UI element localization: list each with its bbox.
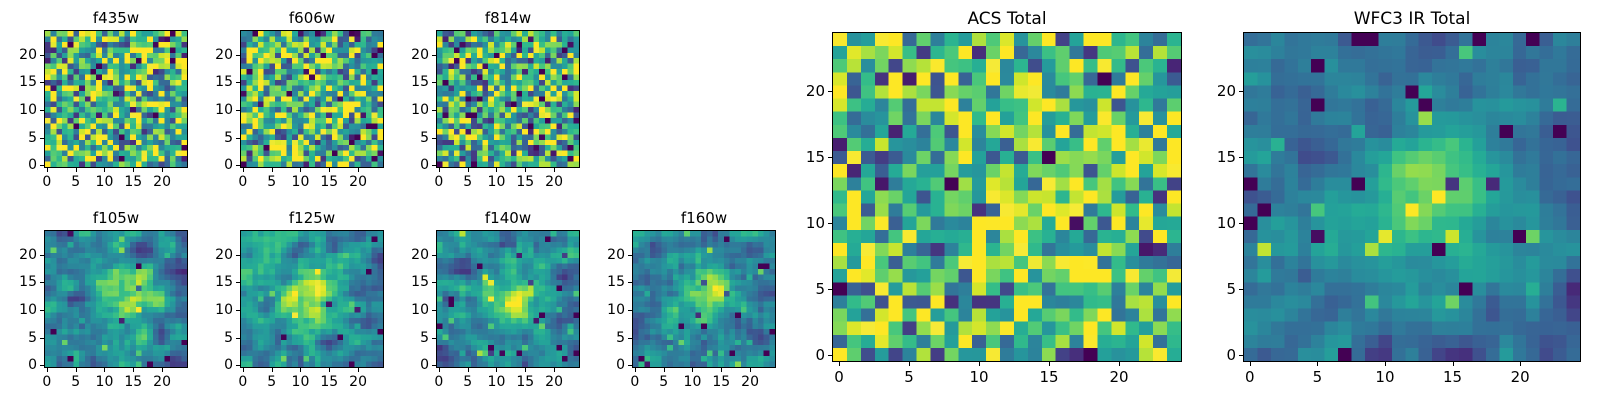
y-tick-label: 5 [28,330,37,346]
image-panel-f140w[interactable] [436,230,580,368]
heatmap-f105w [45,231,187,367]
heatmap-wfc3-ir-total [1244,33,1580,361]
x-tick-label: 10 [488,374,506,390]
y-tick-label: 10 [1217,214,1236,232]
y-tick-label: 15 [215,274,233,290]
x-tick-label: 20 [741,374,759,390]
x-tick-mark [272,168,273,172]
y-tick-label: 0 [1226,346,1236,364]
x-tick-mark [554,368,555,372]
y-tick-mark [40,110,44,111]
image-panel-f160w[interactable] [632,230,776,368]
y-tick-label: 0 [28,157,37,173]
y-tick-label: 5 [815,280,825,298]
x-tick-label: 20 [349,374,367,390]
x-tick-mark [721,368,722,372]
y-tick-mark [236,55,240,56]
x-tick-mark [664,368,665,372]
x-tick-mark [1119,362,1120,366]
y-tick-mark [828,223,832,224]
y-tick-mark [628,282,632,283]
x-tick-label: 5 [904,368,914,386]
x-tick-label: 10 [96,174,114,190]
y-tick-mark [432,110,436,111]
y-tick-label: 0 [616,357,625,373]
y-tick-mark [40,255,44,256]
x-tick-label: 5 [71,174,80,190]
x-tick-label: 15 [320,174,338,190]
x-tick-label: 20 [1109,368,1128,386]
x-tick-mark [272,368,273,372]
y-tick-label: 0 [28,357,37,373]
x-tick-mark [909,362,910,366]
y-tick-mark [40,55,44,56]
x-tick-mark [133,168,134,172]
y-tick-mark [828,91,832,92]
x-tick-mark [76,368,77,372]
y-tick-label: 20 [411,247,429,263]
y-tick-label: 10 [607,302,625,318]
x-tick-mark [496,368,497,372]
y-tick-label: 20 [1217,82,1236,100]
x-tick-label: 15 [124,174,142,190]
image-panel-acs-total[interactable] [832,32,1182,362]
x-tick-mark [358,368,359,372]
x-tick-label: 15 [516,174,534,190]
x-tick-label: 20 [545,174,563,190]
y-tick-mark [40,365,44,366]
y-tick-mark [40,165,44,166]
x-tick-mark [439,368,440,372]
x-tick-label: 15 [1039,368,1058,386]
x-tick-mark [525,368,526,372]
x-tick-label: 10 [1375,368,1394,386]
y-tick-mark [1239,91,1243,92]
y-tick-label: 5 [224,130,233,146]
y-tick-mark [432,365,436,366]
x-tick-mark [47,368,48,372]
x-tick-label: 0 [630,374,639,390]
y-tick-label: 10 [19,302,37,318]
x-tick-mark [76,168,77,172]
y-tick-label: 0 [224,357,233,373]
y-tick-label: 15 [806,148,825,166]
y-tick-mark [432,165,436,166]
x-tick-label: 15 [124,374,142,390]
y-tick-mark [40,138,44,139]
image-panel-f105w[interactable] [44,230,188,368]
y-tick-label: 5 [616,330,625,346]
y-tick-label: 20 [215,247,233,263]
x-tick-label: 15 [516,374,534,390]
x-tick-mark [133,368,134,372]
y-tick-mark [432,310,436,311]
y-tick-label: 10 [411,102,429,118]
x-tick-label: 10 [488,174,506,190]
panel-title-f140w: f140w [436,209,580,227]
image-panel-f814w[interactable] [436,30,580,168]
y-tick-label: 0 [224,157,233,173]
x-tick-label: 5 [463,374,472,390]
image-panel-wfc3-ir-total[interactable] [1243,32,1581,362]
y-tick-label: 15 [411,274,429,290]
panel-title-wfc3-ir-total: WFC3 IR Total [1243,9,1581,29]
x-tick-label: 20 [153,174,171,190]
y-tick-mark [236,138,240,139]
x-tick-label: 10 [969,368,988,386]
y-tick-mark [236,365,240,366]
panel-title-f814w: f814w [436,9,580,27]
x-tick-label: 5 [267,374,276,390]
y-tick-mark [828,289,832,290]
y-tick-label: 10 [806,214,825,232]
x-tick-mark [47,168,48,172]
y-tick-mark [236,165,240,166]
x-tick-mark [329,168,330,172]
x-tick-label: 0 [42,374,51,390]
panel-title-f606w: f606w [240,9,384,27]
panel-title-acs-total: ACS Total [832,9,1182,29]
y-tick-mark [40,282,44,283]
y-tick-label: 5 [1226,280,1236,298]
y-tick-label: 20 [607,247,625,263]
x-tick-mark [979,362,980,366]
x-tick-mark [1520,362,1521,366]
x-tick-mark [635,368,636,372]
y-tick-label: 20 [19,247,37,263]
heatmap-acs-total [833,33,1181,361]
y-tick-label: 10 [19,102,37,118]
y-tick-mark [236,282,240,283]
y-tick-mark [628,310,632,311]
x-tick-label: 10 [292,374,310,390]
x-tick-mark [329,368,330,372]
y-tick-mark [432,138,436,139]
y-tick-mark [40,82,44,83]
x-tick-mark [1453,362,1454,366]
y-tick-label: 5 [28,130,37,146]
x-tick-mark [162,368,163,372]
x-tick-label: 5 [267,174,276,190]
x-tick-mark [496,168,497,172]
x-tick-mark [468,368,469,372]
y-tick-mark [628,338,632,339]
y-tick-label: 10 [215,102,233,118]
x-tick-label: 5 [659,374,668,390]
x-tick-mark [358,168,359,172]
y-tick-mark [1239,157,1243,158]
x-tick-mark [750,368,751,372]
x-tick-mark [692,368,693,372]
y-tick-mark [236,110,240,111]
heatmap-f160w [633,231,775,367]
y-tick-label: 15 [1217,148,1236,166]
y-tick-label: 15 [411,74,429,90]
x-tick-label: 0 [434,374,443,390]
x-tick-mark [243,168,244,172]
x-tick-label: 10 [684,374,702,390]
y-tick-mark [432,282,436,283]
x-tick-label: 0 [1245,368,1255,386]
x-tick-label: 20 [1511,368,1530,386]
x-tick-mark [525,168,526,172]
x-tick-label: 15 [712,374,730,390]
panel-title-f125w: f125w [240,209,384,227]
y-tick-label: 5 [420,330,429,346]
x-tick-mark [1317,362,1318,366]
y-tick-mark [236,338,240,339]
y-tick-label: 5 [224,330,233,346]
x-tick-mark [104,368,105,372]
x-tick-mark [554,168,555,172]
y-tick-mark [1239,223,1243,224]
x-tick-label: 0 [238,174,247,190]
y-tick-label: 10 [215,302,233,318]
x-tick-label: 10 [292,174,310,190]
panel-title-f105w: f105w [44,209,188,227]
y-tick-mark [828,157,832,158]
panel-title-f435w: f435w [44,9,188,27]
x-tick-mark [300,368,301,372]
x-tick-label: 5 [463,174,472,190]
x-tick-mark [300,168,301,172]
x-tick-mark [468,168,469,172]
y-tick-label: 15 [19,274,37,290]
y-tick-mark [40,310,44,311]
heatmap-f606w [241,31,383,167]
y-tick-mark [236,310,240,311]
y-tick-label: 15 [607,274,625,290]
y-tick-label: 20 [19,47,37,63]
x-tick-label: 0 [238,374,247,390]
heatmap-f814w [437,31,579,167]
y-tick-mark [236,82,240,83]
image-panel-f435w[interactable] [44,30,188,168]
x-tick-label: 20 [349,174,367,190]
x-tick-label: 5 [71,374,80,390]
y-tick-mark [432,338,436,339]
y-tick-mark [432,55,436,56]
x-tick-label: 0 [834,368,844,386]
x-tick-label: 15 [320,374,338,390]
y-tick-label: 20 [215,47,233,63]
y-tick-mark [828,355,832,356]
image-panel-f125w[interactable] [240,230,384,368]
x-tick-label: 15 [1443,368,1462,386]
x-tick-mark [439,168,440,172]
y-tick-mark [432,82,436,83]
x-tick-label: 0 [42,174,51,190]
y-tick-label: 5 [420,130,429,146]
y-tick-mark [40,338,44,339]
y-tick-mark [1239,289,1243,290]
x-tick-label: 20 [545,374,563,390]
heatmap-f140w [437,231,579,367]
x-tick-label: 5 [1313,368,1323,386]
heatmap-f125w [241,231,383,367]
y-tick-label: 0 [420,157,429,173]
y-tick-label: 15 [19,74,37,90]
y-tick-label: 10 [411,302,429,318]
x-tick-mark [104,168,105,172]
x-tick-label: 20 [153,374,171,390]
y-tick-label: 15 [215,74,233,90]
y-tick-label: 0 [420,357,429,373]
image-panel-f606w[interactable] [240,30,384,168]
panel-title-f160w: f160w [632,209,776,227]
y-tick-label: 0 [815,346,825,364]
x-tick-mark [162,168,163,172]
y-tick-mark [432,255,436,256]
x-tick-label: 0 [434,174,443,190]
x-tick-mark [1250,362,1251,366]
x-tick-mark [1385,362,1386,366]
y-tick-label: 20 [806,82,825,100]
x-tick-mark [1049,362,1050,366]
x-tick-label: 10 [96,374,114,390]
y-tick-mark [1239,355,1243,356]
y-tick-mark [236,255,240,256]
y-tick-mark [628,365,632,366]
x-tick-mark [243,368,244,372]
x-tick-mark [839,362,840,366]
y-tick-mark [628,255,632,256]
y-tick-label: 20 [411,47,429,63]
heatmap-f435w [45,31,187,167]
